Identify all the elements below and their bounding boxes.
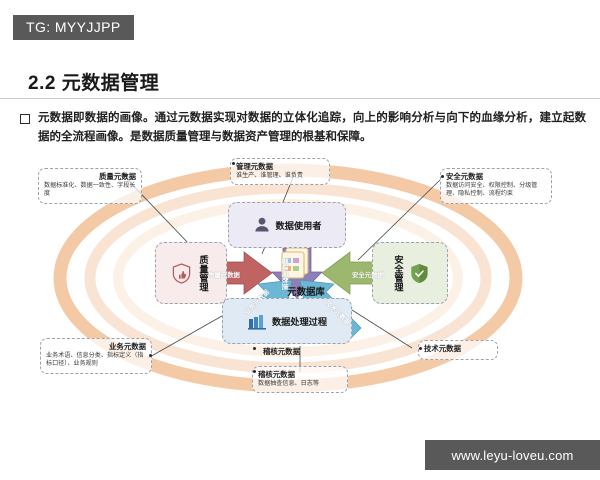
shield-thumbsup-icon [172, 263, 191, 284]
shield-check-icon [410, 263, 429, 284]
note-technical-metadata: 技术元数据 [418, 340, 498, 360]
node-label: 安全管理 [391, 255, 405, 292]
note-title: 业务元数据 [46, 342, 146, 351]
note-desc: 谁生产、谁管理、谁负责 [236, 172, 324, 180]
note-title: 技术元数据 [424, 344, 492, 353]
metadata-management-diagram: 质量元数据 数据标准化、数据一致性、字段长度 管理元数据 谁生产、谁管理、谁负责… [0, 150, 600, 412]
note-title: 稽核元数据 [258, 370, 342, 379]
page-title: 2.2 元数据管理 [28, 68, 159, 95]
note-desc: 数据标准化、数据一致性、字段长度 [44, 182, 136, 198]
arrow-caption-quality: 质量元数据 [208, 270, 240, 279]
arrow-caption-manage: 管理元数据 [281, 258, 290, 290]
bullet-text: 元数据即数据的画像。通过元数据实现对数据的立体化追踪，向上的影响分析与向下的血缘… [38, 109, 586, 147]
note-business-metadata: 业务元数据 业务术语、信息分类、指标定义（指标口径）、业务规则 [40, 338, 152, 374]
node-data-user: 数据使用者 [228, 202, 346, 248]
note-title: 质量元数据 [44, 172, 136, 181]
label-audit-metadata-upper: 稽核元数据 [263, 346, 300, 357]
title-divider [0, 98, 600, 99]
note-desc: 业务术语、信息分类、指标定义（指标口径）、业务规则 [46, 352, 146, 368]
square-bullet-icon [20, 114, 30, 124]
node-label: 数据处理过程 [272, 314, 327, 328]
note-desc: 数据访问安全、权限控制、分级管理、隐私控制、流程约束 [446, 182, 546, 198]
tg-badge: TG: MYYJJPP [13, 15, 134, 40]
bullet-paragraph: 元数据即数据的画像。通过元数据实现对数据的立体化追踪，向上的影响分析与向下的血缘… [20, 109, 586, 147]
note-security-metadata: 安全元数据 数据访问安全、权限控制、分级管理、隐私控制、流程约束 [440, 168, 552, 204]
note-title: 管理元数据 [236, 162, 324, 171]
note-audit-metadata: 稽核元数据 数据抽查信息、日志等 [252, 366, 348, 393]
footer-watermark: www.leyu-loveu.com [425, 440, 600, 470]
note-manage-metadata: 管理元数据 谁生产、谁管理、谁负责 [230, 158, 330, 185]
person-icon [253, 216, 271, 234]
note-title: 安全元数据 [446, 172, 546, 181]
node-label: 数据使用者 [276, 218, 322, 232]
arrow-caption-security: 安全元数据 [352, 270, 384, 279]
center-node-label: 元数据库 [266, 284, 346, 298]
note-desc: 数据抽查信息、日志等 [258, 380, 342, 388]
